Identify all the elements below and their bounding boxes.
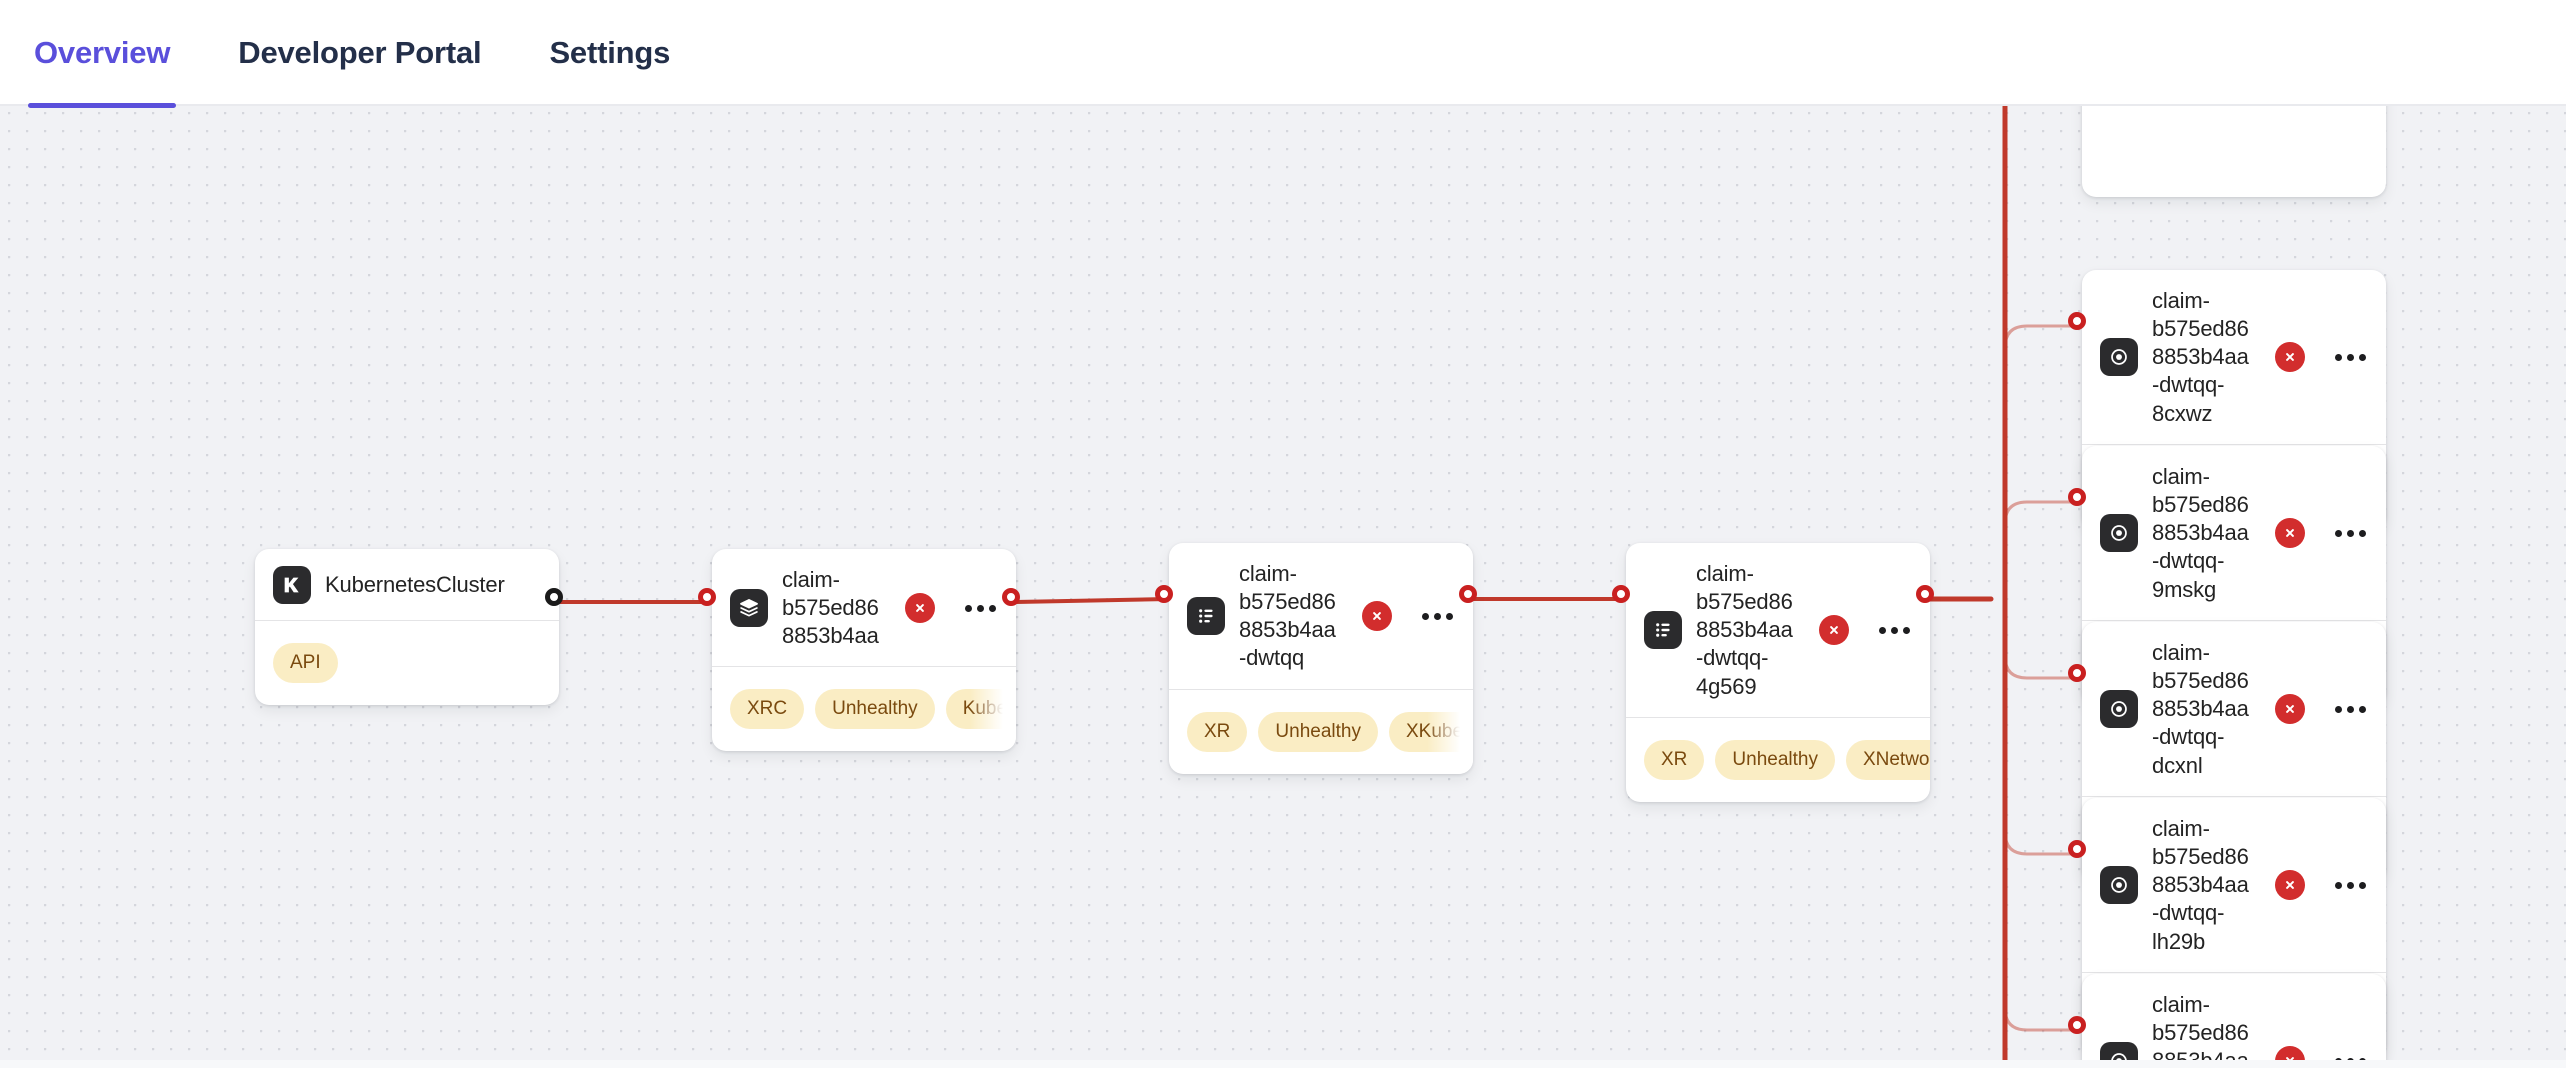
node-header: claim-b575ed868853b4aa-dwtqq-4g569 <box>1626 543 1930 717</box>
graph-node-claim-xr-dwtqq[interactable]: claim-b575ed868853b4aa-dwtqqXRUnhealthyX… <box>1169 543 1473 774</box>
node-tag: Unhealthy <box>815 689 935 729</box>
node-header: claim-b575ed868853b4aa <box>712 549 1016 666</box>
tab-settings-label: Settings <box>549 35 670 71</box>
node-tag: XNetwork <box>1846 740 1930 780</box>
node-target-handle[interactable] <box>1155 585 1173 603</box>
node-target-handle[interactable] <box>2068 664 2086 682</box>
status-badge-unhealthy-icon[interactable] <box>2275 694 2305 724</box>
node-tag-list: XRUnhealthyXNetwork <box>1626 718 1930 802</box>
node-target-handle[interactable] <box>698 588 716 606</box>
node-more-options-icon[interactable] <box>2335 882 2366 889</box>
node-more-options-icon[interactable] <box>965 605 996 612</box>
node-title: claim-b575ed868853b4aa <box>782 566 885 650</box>
status-badge-unhealthy-icon[interactable] <box>2275 342 2305 372</box>
canvas-bottom-edge <box>0 1060 2566 1068</box>
graph-node-mr-fzcd6[interactable]: claim-b575ed868853b4aa-dwtqq-fzcd6MRUnhe… <box>2082 974 2386 1068</box>
target-circle-icon <box>2100 514 2138 552</box>
node-tag-list: API <box>255 621 559 705</box>
graph-node-claim-xr-4g569[interactable]: claim-b575ed868853b4aa-dwtqq-4g569XRUnhe… <box>1626 543 1930 802</box>
node-target-handle[interactable] <box>1612 585 1630 603</box>
node-title: claim-b575ed868853b4aa-dwtqq <box>1239 560 1342 673</box>
list-rows-icon <box>1187 597 1225 635</box>
node-tag: XR <box>1644 740 1704 780</box>
node-header: claim-b575ed868853b4aa-dwtqq-dcxnl <box>2082 622 2386 796</box>
node-title: claim-b575ed868853b4aa-dwtqq-8cxwz <box>2152 287 2255 428</box>
status-badge-unhealthy-icon[interactable] <box>1819 615 1849 645</box>
node-title: claim-b575ed868853b4aa-dwtqq-9mskg <box>2152 463 2255 604</box>
list-rows-icon <box>1644 611 1682 649</box>
node-target-handle[interactable] <box>2068 488 2086 506</box>
node-header: KubernetesCluster <box>255 549 559 620</box>
node-target-handle[interactable] <box>2068 312 2086 330</box>
node-more-options-icon[interactable] <box>1879 627 1910 634</box>
node-more-options-icon[interactable] <box>2335 354 2366 361</box>
tab-overview[interactable]: Overview <box>0 0 204 106</box>
node-tag: Unhealthy <box>1715 740 1835 780</box>
node-more-options-icon[interactable] <box>2335 530 2366 537</box>
tab-settings[interactable]: Settings <box>515 0 704 106</box>
node-tag: KubernetesCluster <box>946 689 1016 729</box>
node-target-handle[interactable] <box>2068 1016 2086 1034</box>
node-source-handle[interactable] <box>545 588 563 606</box>
target-circle-icon <box>2100 690 2138 728</box>
node-source-handle[interactable] <box>1916 585 1934 603</box>
kubernetes-logo-icon <box>273 566 311 604</box>
node-header: claim-b575ed868853b4aa-dwtqq-8cxwz <box>2082 270 2386 444</box>
node-target-handle[interactable] <box>2068 840 2086 858</box>
node-header: claim-b575ed868853b4aa-dwtqq <box>1169 543 1473 689</box>
node-tag: XRC <box>730 689 804 729</box>
node-title: KubernetesCluster <box>325 571 541 599</box>
node-header: claim-b575ed868853b4aa-dwtqq-9mskg <box>2082 446 2386 620</box>
graph-node-kubernetescluster[interactable]: KubernetesClusterAPI <box>255 549 559 705</box>
node-source-handle[interactable] <box>1002 588 1020 606</box>
tab-developer-portal-label: Developer Portal <box>238 35 481 71</box>
node-tag: API <box>273 643 338 683</box>
status-badge-unhealthy-icon[interactable] <box>905 593 935 623</box>
node-tag: XR <box>1187 712 1247 752</box>
graph-node-claim-xrc[interactable]: claim-b575ed868853b4aaXRCUnhealthyKubern… <box>712 549 1016 751</box>
node-more-options-icon[interactable] <box>1422 613 1453 620</box>
target-circle-icon <box>2100 866 2138 904</box>
target-circle-icon <box>2100 338 2138 376</box>
node-title: claim-b575ed868853b4aa-dwtqq-dcxnl <box>2152 639 2255 780</box>
node-title: claim-b575ed868853b4aa-dwtqq-4g569 <box>1696 560 1799 701</box>
node-tag: Unhealthy <box>1258 712 1378 752</box>
node-tag-list: XRCUnhealthyKubernetesCluster <box>712 667 1016 751</box>
status-badge-unhealthy-icon[interactable] <box>2275 518 2305 548</box>
tab-developer-portal[interactable]: Developer Portal <box>204 0 515 106</box>
resource-graph-canvas[interactable]: KubernetesClusterAPIclaim-b575ed868853b4… <box>0 106 2566 1068</box>
graph-node-mr-above-clipped[interactable] <box>2082 106 2386 197</box>
layers-stack-icon <box>730 589 768 627</box>
node-source-handle[interactable] <box>1459 585 1477 603</box>
status-badge-unhealthy-icon[interactable] <box>2275 870 2305 900</box>
node-title: claim-b575ed868853b4aa-dwtqq-lh29b <box>2152 815 2255 956</box>
node-title: claim-b575ed868853b4aa-dwtqq-fzcd6 <box>2152 991 2255 1068</box>
node-more-options-icon[interactable] <box>2335 706 2366 713</box>
tab-overview-label: Overview <box>34 35 170 71</box>
node-header: claim-b575ed868853b4aa-dwtqq-lh29b <box>2082 798 2386 972</box>
node-header: claim-b575ed868853b4aa-dwtqq-fzcd6 <box>2082 974 2386 1068</box>
main-tab-bar: Overview Developer Portal Settings <box>0 0 2566 106</box>
node-tag-list: XRUnhealthyXKubernetesCluster <box>1169 690 1473 774</box>
status-badge-unhealthy-icon[interactable] <box>1362 601 1392 631</box>
node-tag: XKubernetesCluster <box>1389 712 1473 752</box>
